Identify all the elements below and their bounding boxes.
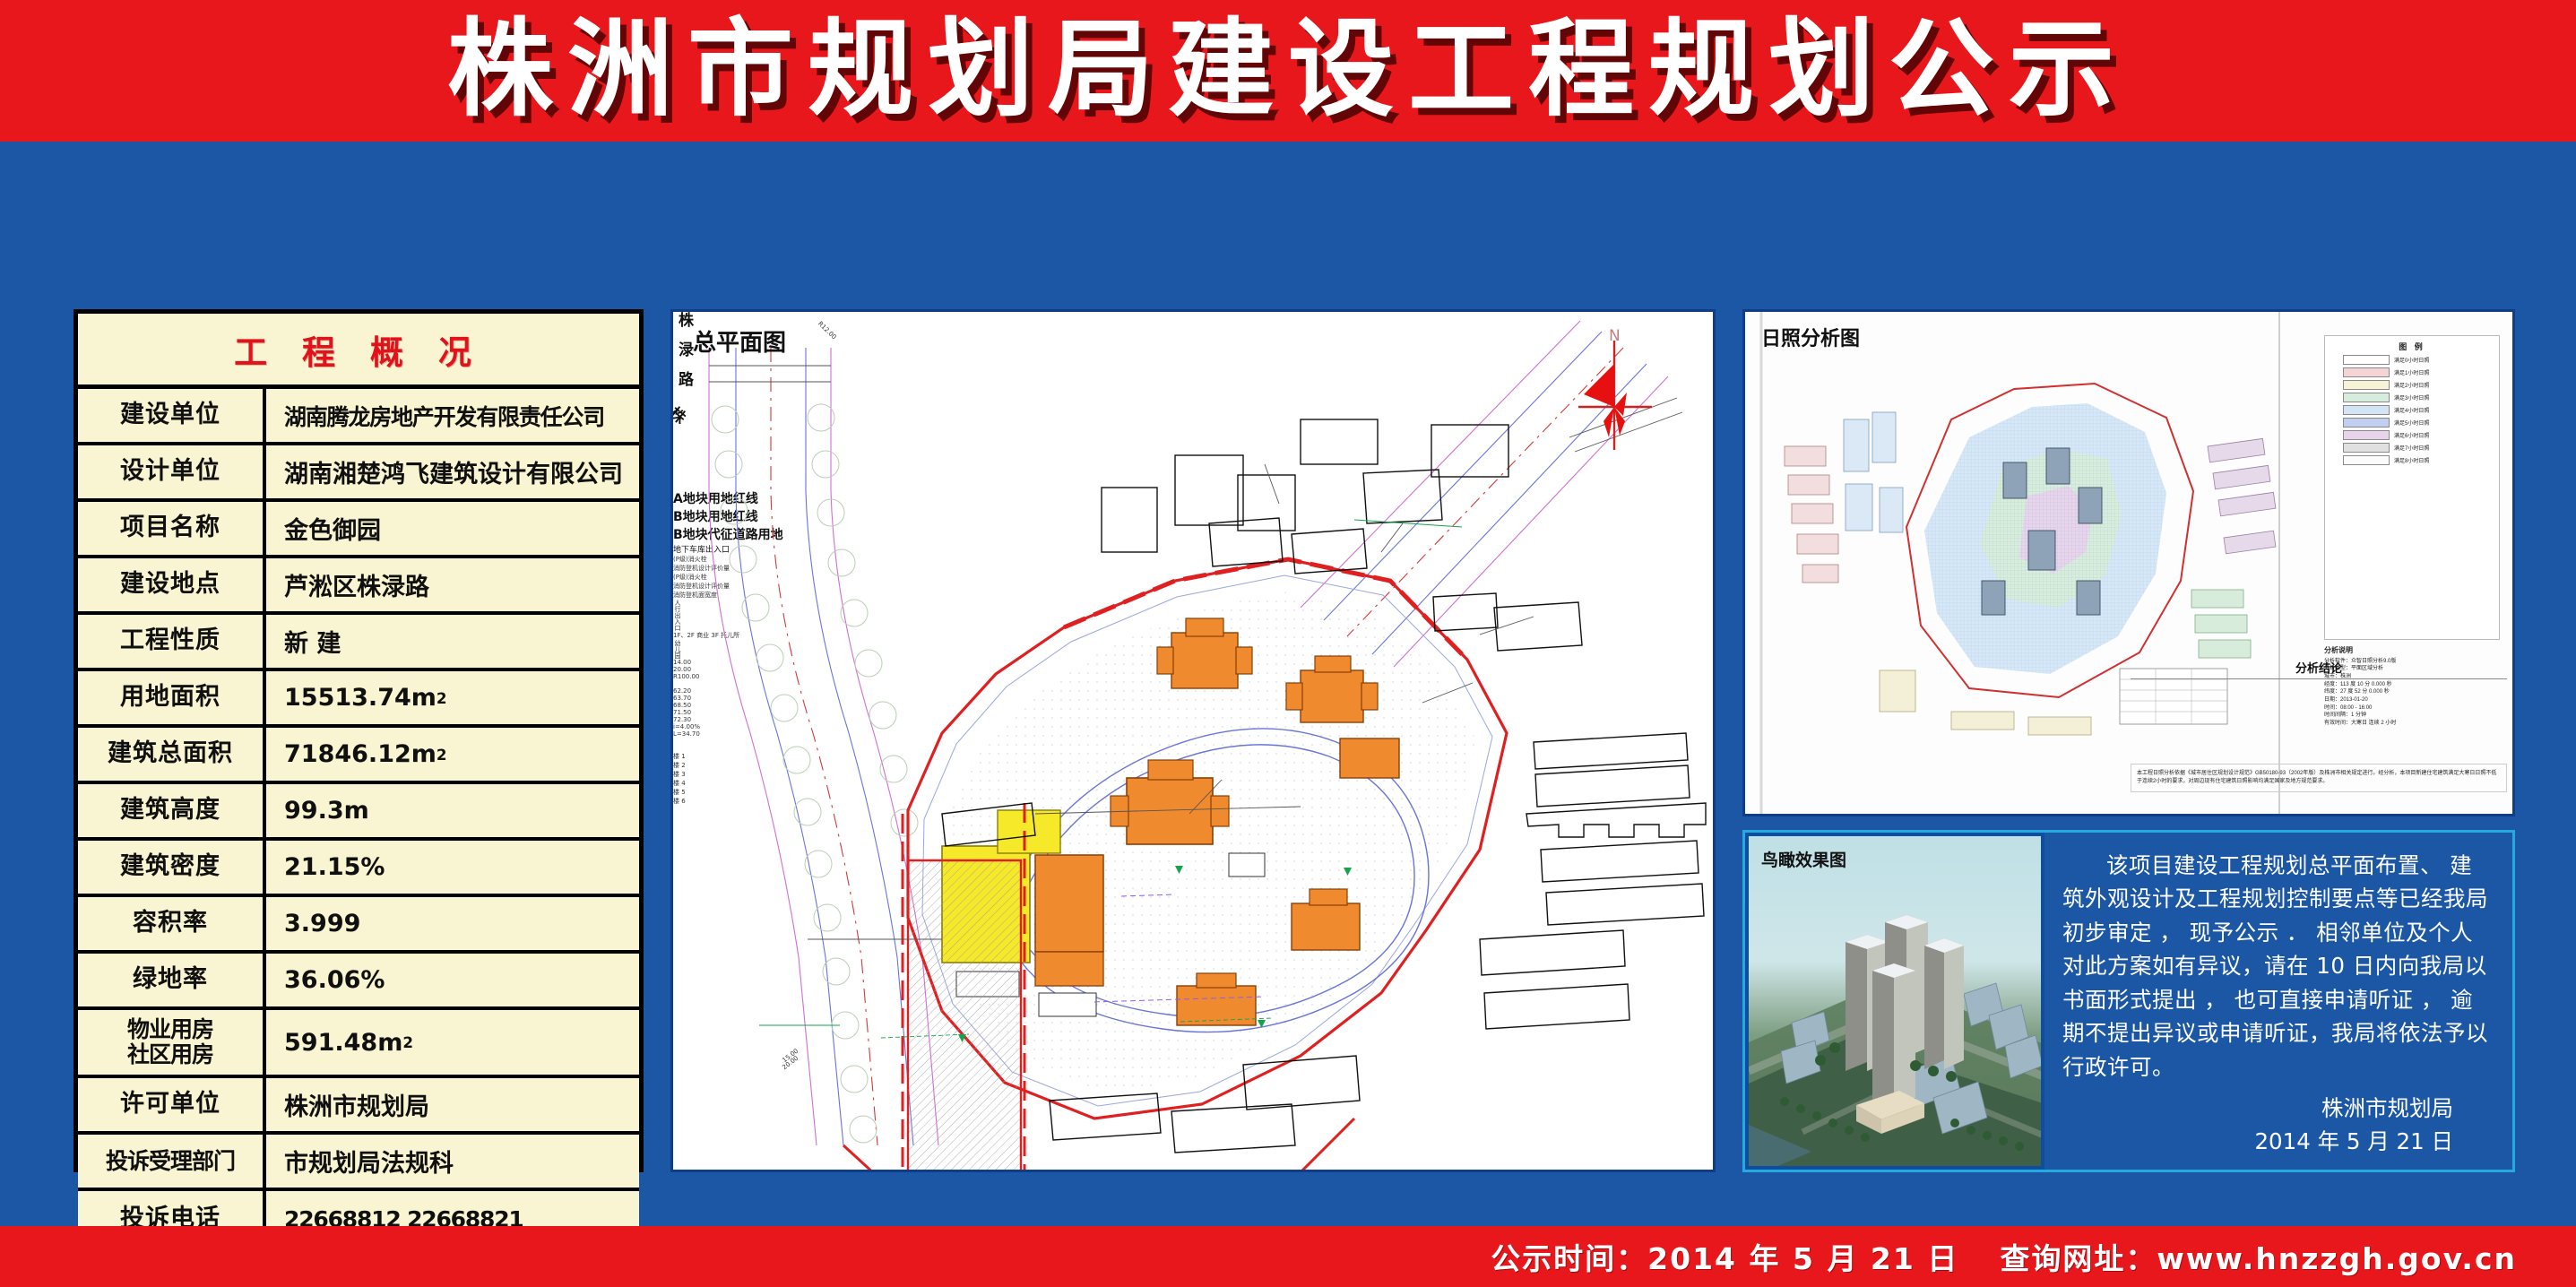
legend-label: 满足2小时日照 — [2394, 381, 2429, 389]
sunlight-analysis-notes: 分析说明 分析软件：众智日照分析9.0版分析类型：平面区域分析城市：株洲经度：1… — [2324, 645, 2500, 728]
table-row-key: 项目名称 — [78, 502, 266, 555]
table-row-key: 工程性质 — [78, 615, 266, 668]
legend-label: 满足4小时日照 — [2394, 406, 2429, 414]
table-title-row: 工 程 概 况 — [78, 314, 639, 389]
sunlight-legend: 图 例 满足0小时日照满足1小时日照满足2小时日照满足3小时日照满足4小时日照满… — [2324, 335, 2500, 640]
notes-line: 日期：2013-01-20 — [2324, 696, 2500, 704]
legend-label: 满足6小时日照 — [2394, 431, 2429, 439]
legend-label: 满足1小时日照 — [2394, 368, 2429, 376]
table-row: 建筑高度99.3m — [78, 784, 639, 841]
table-row-value: 3.999 — [266, 897, 639, 950]
table-row-value: 新 建 — [266, 615, 639, 668]
footer-url-label: 查询网址： — [2000, 1241, 2157, 1276]
table-row: 建设地点芦淞区株渌路 — [78, 558, 639, 615]
legend-item: 满足2小时日照 — [2343, 380, 2499, 390]
footer-time: 公示时间：2014 年 5 月 21 日 — [1491, 1235, 1958, 1278]
notes-line: 时间间隔：1 分钟 — [2324, 712, 2500, 720]
legend-swatch — [2343, 455, 2390, 465]
table-row: 绿地率36.06% — [78, 954, 639, 1010]
footer-bar: 公示时间：2014 年 5 月 21 日 查询网址：www.hnzzgh.gov… — [0, 1226, 2576, 1287]
legend-swatch — [2343, 367, 2390, 377]
notes-line: 有效时间：大寒日 连续 2 小时 — [2324, 720, 2500, 728]
conclusion-title: 分析结论 — [2131, 659, 2507, 679]
legend-item: 满足8小时日照 — [2343, 455, 2499, 465]
table-row-key: 建筑高度 — [78, 784, 266, 837]
table-row: 项目名称金色御园 — [78, 502, 639, 558]
table-row: 用地面积15513.74m2 — [78, 671, 639, 728]
table-row: 容积率3.999 — [78, 897, 639, 954]
table-row-value: 金色御园 — [266, 502, 639, 555]
footer-time-value: 2014 年 5 月 21 日 — [1647, 1241, 1958, 1276]
table-row-key: 建筑总面积 — [78, 728, 266, 781]
table-row-value: 15513.74m2 — [266, 671, 639, 724]
legend-item: 满足3小时日照 — [2343, 393, 2499, 402]
table-row-value: 99.3m — [266, 784, 639, 837]
legend-item: 满足4小时日照 — [2343, 405, 2499, 415]
notice-date: 2014 年 5 月 21 日 — [2062, 1126, 2453, 1159]
legend-item: 满足5小时日照 — [2343, 418, 2499, 428]
table-row-value: 36.06% — [266, 954, 639, 1006]
table-row-value: 湖南湘楚鸿飞建筑设计有限公司 — [266, 445, 639, 498]
legend-item: 满足7小时日照 — [2343, 443, 2499, 453]
page-title: 株洲市规划局建设工程规划公示 — [0, 13, 2576, 125]
table-row-key: 设计单位 — [78, 445, 266, 498]
table-row-value: 湖南腾龙房地产开发有限责任公司 — [266, 389, 639, 442]
table-row: 物业用房社区用房591.48m2 — [78, 1010, 639, 1078]
legend-swatch — [2343, 380, 2390, 390]
legend-item: 满足6小时日照 — [2343, 430, 2499, 440]
table-row-value: 市规划局法规科 — [266, 1135, 639, 1188]
legend-label: 满足8小时日照 — [2394, 456, 2429, 464]
table-row-value: 591.48m2 — [266, 1010, 639, 1075]
notice-body: 该项目建设工程规划总平面布置、 建筑外观设计及工程规划控制要点等已经我局初步审定… — [2062, 849, 2489, 1084]
conclusion-body: 本工程日照分析依据《城市居住区规划设计规范》GB50180-93（2002年版）… — [2131, 764, 2507, 792]
legend-items: 满足0小时日照满足1小时日照满足2小时日照满足3小时日照满足4小时日照满足5小时… — [2325, 355, 2499, 465]
legend-item: 满足1小时日照 — [2343, 367, 2499, 377]
site-plan-panel[interactable]: 总平面图 — [670, 309, 1716, 1172]
table-row-value: 21.15% — [266, 841, 639, 894]
table-row-key: 建筑密度 — [78, 841, 266, 894]
legend-swatch — [2343, 430, 2390, 440]
legend-label: 满足7小时日照 — [2394, 444, 2429, 452]
svg-text:N: N — [1609, 327, 1621, 345]
table-row: 设计单位湖南湘楚鸿飞建筑设计有限公司 — [78, 445, 639, 502]
notice-signer: 株洲市规划局 — [2062, 1093, 2453, 1126]
legend-label: 满足3小时日照 — [2394, 393, 2429, 402]
birdseye-rendering[interactable]: 鸟瞰效果图 — [1745, 833, 2044, 1170]
notes-title: 分析说明 — [2324, 645, 2500, 656]
table-row-key: 投诉受理部门 — [78, 1135, 266, 1188]
rendering-artwork — [1749, 836, 2041, 1166]
table-row: 工程性质新 建 — [78, 615, 639, 671]
table-row-value: 芦淞区株渌路 — [266, 558, 639, 611]
notes-line: 经度：113 度 10 分 0.000 秒 — [2324, 681, 2500, 689]
table-row: 建筑密度21.15% — [78, 841, 639, 897]
project-summary-table: 工 程 概 况 建设单位湖南腾龙房地产开发有限责任公司设计单位湖南湘楚鸿飞建筑设… — [73, 309, 644, 1172]
site-plan-title: 总平面图 — [693, 324, 786, 358]
table-row: 建设单位湖南腾龙房地产开发有限责任公司 — [78, 389, 639, 445]
public-notice: 该项目建设工程规划总平面布置、 建筑外观设计及工程规划控制要点等已经我局初步审定… — [2044, 833, 2512, 1170]
header-banner: 株洲市规划局建设工程规划公示 — [0, 0, 2576, 142]
footer-url: 查询网址：www.hnzzgh.gov.cn — [2000, 1235, 2517, 1278]
footer-url-value[interactable]: www.hnzzgh.gov.cn — [2157, 1241, 2517, 1276]
legend-swatch — [2343, 393, 2390, 402]
table-row: 投诉受理部门市规划局法规科 — [78, 1135, 639, 1191]
footer-time-label: 公示时间： — [1491, 1241, 1647, 1276]
legend-item: 满足0小时日照 — [2343, 355, 2499, 365]
legend-label: 满足0小时日照 — [2394, 356, 2429, 364]
sunlight-panel-title: 日照分析图 — [1761, 323, 1860, 351]
table-row-key: 建设单位 — [78, 389, 266, 442]
table-row-key: 许可单位 — [78, 1078, 266, 1131]
notes-line: 纬度：27 度 52 分 0.000 秒 — [2324, 688, 2500, 696]
table-title: 工 程 概 况 — [234, 325, 483, 374]
legend-label: 满足5小时日照 — [2394, 419, 2429, 427]
sunlight-analysis-panel[interactable]: 日照分析图 — [1742, 309, 2515, 816]
legend-swatch — [2343, 418, 2390, 428]
legend-swatch — [2343, 355, 2390, 365]
legend-title: 图 例 — [2325, 341, 2499, 352]
table-row-key: 建设地点 — [78, 558, 266, 611]
rendering-title: 鸟瞰效果图 — [1761, 847, 1846, 871]
footer-content: 公示时间：2014 年 5 月 21 日 查询网址：www.hnzzgh.gov… — [1491, 1226, 2517, 1287]
notice-and-rendering-panel: 鸟瞰效果图 — [1742, 830, 2515, 1172]
table-row-key: 用地面积 — [78, 671, 266, 724]
legend-swatch — [2343, 405, 2390, 415]
table-row-value: 71846.12m2 — [266, 728, 639, 781]
table-row: 建筑总面积71846.12m2 — [78, 728, 639, 784]
table-row-key: 物业用房社区用房 — [78, 1010, 266, 1075]
table-row: 许可单位株洲市规划局 — [78, 1078, 639, 1135]
notes-line: 时间：08:00 - 16:00 — [2324, 704, 2500, 713]
sunlight-analysis-drawing — [1745, 312, 2301, 814]
table-row-key: 绿地率 — [78, 954, 266, 1006]
table-row-key: 容积率 — [78, 897, 266, 950]
notice-signature: 株洲市规划局 2014 年 5 月 21 日 — [2062, 1093, 2489, 1159]
table-row-value: 株洲市规划局 — [266, 1078, 639, 1131]
legend-swatch — [2343, 443, 2390, 453]
table-body: 建设单位湖南腾龙房地产开发有限责任公司设计单位湖南湘楚鸿飞建筑设计有限公司项目名… — [78, 389, 639, 1248]
